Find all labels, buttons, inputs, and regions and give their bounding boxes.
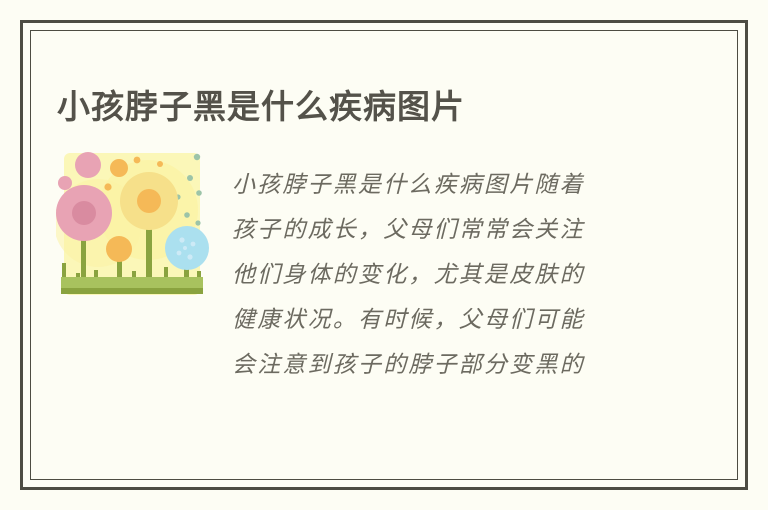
article-content: 小孩脖子黑是什么疾病图片随着 孩子的成长，父母们常常会关注 他们身体的变化，尤其… <box>56 145 676 395</box>
pink-circle-top <box>75 152 101 178</box>
body-line: 他们身体的变化，尤其是皮肤的 <box>232 253 672 298</box>
article-thumbnail <box>56 145 210 302</box>
orange-flower-small <box>106 236 132 262</box>
page-title: 小孩脖子黑是什么疾病图片 <box>57 85 465 129</box>
article-body: 小孩脖子黑是什么疾病图片随着 孩子的成长，父母们常常会关注 他们身体的变化，尤其… <box>232 163 672 388</box>
ground-line <box>61 288 203 294</box>
flower-garden-illustration <box>56 145 210 302</box>
orange-circle-top <box>110 159 128 177</box>
pink-circle-small <box>58 176 72 190</box>
article-page: 小孩脖子黑是什么疾病图片 <box>0 0 768 510</box>
body-line: 孩子的成长，父母们常常会关注 <box>232 208 672 253</box>
body-line: 健康状况。有时候，父母们可能 <box>232 298 672 343</box>
body-line: 小孩脖子黑是什么疾病图片随着 <box>232 163 672 208</box>
body-line: 会注意到孩子的脖子部分变黑的 <box>232 343 672 388</box>
